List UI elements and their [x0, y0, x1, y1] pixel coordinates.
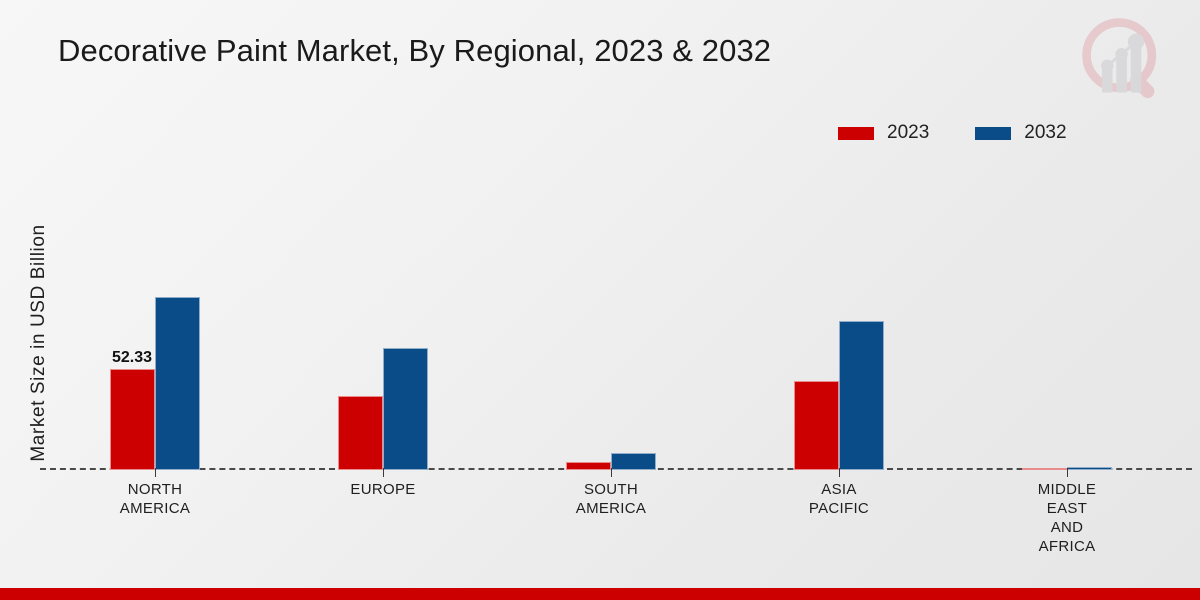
bar-2023-3[interactable] — [566, 462, 611, 470]
bar-group — [566, 180, 656, 470]
x-axis-category-label: EUROPE — [283, 480, 483, 499]
chart-canvas: Decorative Paint Market, By Regional, 20… — [0, 0, 1200, 600]
x-axis-category-label: SOUTHAMERICA — [511, 480, 711, 518]
chart-legend: 2023 2032 — [838, 122, 1067, 144]
legend-label-2032: 2032 — [1024, 122, 1066, 144]
legend-label-2023: 2023 — [887, 122, 929, 144]
bar-2032-5[interactable] — [1067, 467, 1112, 470]
plot-area: 52.33 — [40, 180, 1190, 470]
legend-swatch-2023 — [838, 127, 874, 140]
legend-item-2032[interactable]: 2032 — [975, 122, 1066, 144]
legend-item-2023[interactable]: 2023 — [838, 122, 929, 144]
bar-2032-2[interactable] — [383, 348, 428, 470]
bar-2023-1[interactable] — [110, 369, 155, 470]
x-axis-category-label: ASIAPACIFIC — [739, 480, 939, 518]
bar-2023-4[interactable] — [794, 381, 839, 470]
bar-2023-2[interactable] — [338, 396, 383, 470]
bar-group — [1022, 180, 1112, 470]
bar-group — [338, 180, 428, 470]
bar-group — [794, 180, 884, 470]
x-axis-tick — [839, 468, 840, 477]
bar-2032-3[interactable] — [611, 453, 656, 470]
bar-value-label: 52.33 — [112, 349, 152, 367]
x-axis-category-label: NORTHAMERICA — [55, 480, 255, 518]
x-axis-tick — [1067, 468, 1068, 477]
footer-accent-strip — [0, 588, 1200, 600]
page-title: Decorative Paint Market, By Regional, 20… — [58, 33, 771, 69]
x-axis-category-label: MIDDLEEASTANDAFRICA — [967, 480, 1167, 556]
watermark-logo-icon — [1076, 12, 1172, 108]
x-axis-tick — [383, 468, 384, 477]
bar-2023-5[interactable] — [1022, 468, 1067, 470]
bar-2032-4[interactable] — [839, 321, 884, 470]
bar-2032-1[interactable] — [155, 297, 200, 470]
x-axis-tick — [155, 468, 156, 477]
legend-swatch-2032 — [975, 127, 1011, 140]
bar-group: 52.33 — [110, 180, 200, 470]
x-axis-tick — [611, 468, 612, 477]
